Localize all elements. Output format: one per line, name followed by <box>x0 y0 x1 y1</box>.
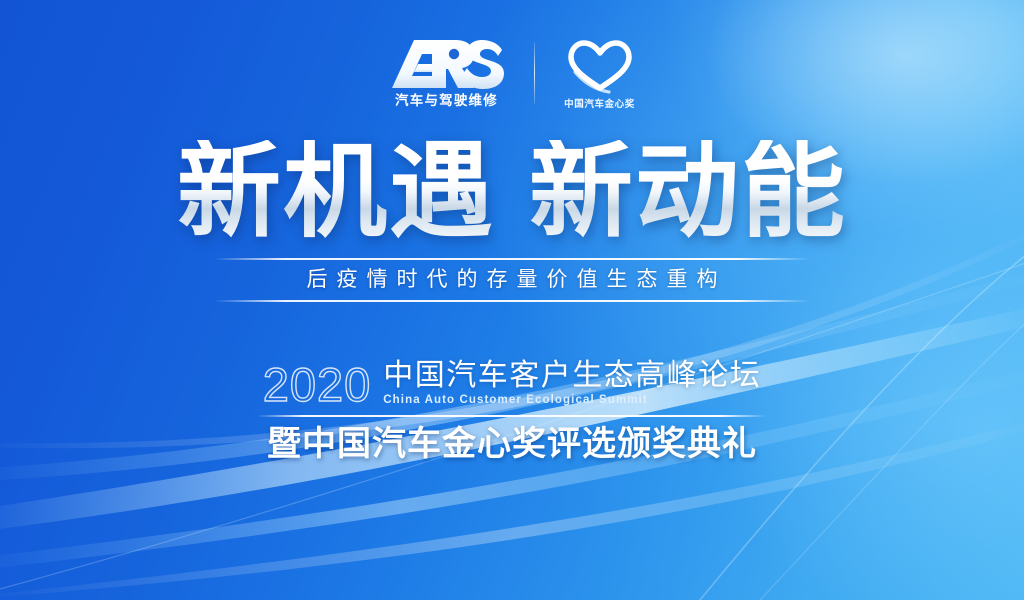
forum-rule <box>257 415 767 417</box>
primary-logo-caption: 汽车与驾驶维修 <box>395 94 498 108</box>
ceremony-title: 暨中国汽车金心奖评选颁奖典礼 <box>257 426 767 463</box>
forum-name-en: China Auto Customer Ecological Summit <box>383 394 648 408</box>
subtitle-text: 后疫情时代的存量价值生态重构 <box>214 260 810 300</box>
event-poster: 汽车与驾驶维修 中国汽车金心奖 新机遇新动能 后疫情时代的存量价值生态重构 20… <box>0 0 1024 600</box>
heart-outline-icon <box>563 38 637 94</box>
logo-row: 汽车与驾驶维修 中国汽车金心奖 <box>0 38 1024 110</box>
forum-name-cn: 中国汽车客户生态高峰论坛 <box>383 360 761 392</box>
forum-block: 2020 中国汽车客户生态高峰论坛 China Auto Customer Ec… <box>257 352 767 463</box>
primary-logo: 汽车与驾驶维修 <box>388 38 506 108</box>
as-monogram-icon <box>388 38 506 90</box>
secondary-logo-caption: 中国汽车金心奖 <box>564 100 635 110</box>
subtitle-rule-bottom <box>214 300 810 302</box>
headline: 新机遇新动能 <box>0 140 1024 244</box>
headline-part-1: 新机遇 <box>177 134 495 250</box>
headline-part-2: 新动能 <box>529 134 847 250</box>
secondary-logo: 中国汽车金心奖 <box>563 38 637 110</box>
subtitle-block: 后疫情时代的存量价值生态重构 <box>214 258 810 302</box>
logo-divider <box>534 42 535 104</box>
forum-names: 中国汽车客户生态高峰论坛 China Auto Customer Ecologi… <box>383 360 761 408</box>
forum-year: 2020 <box>263 363 372 408</box>
forum-title-row: 2020 中国汽车客户生态高峰论坛 China Auto Customer Ec… <box>257 352 767 408</box>
